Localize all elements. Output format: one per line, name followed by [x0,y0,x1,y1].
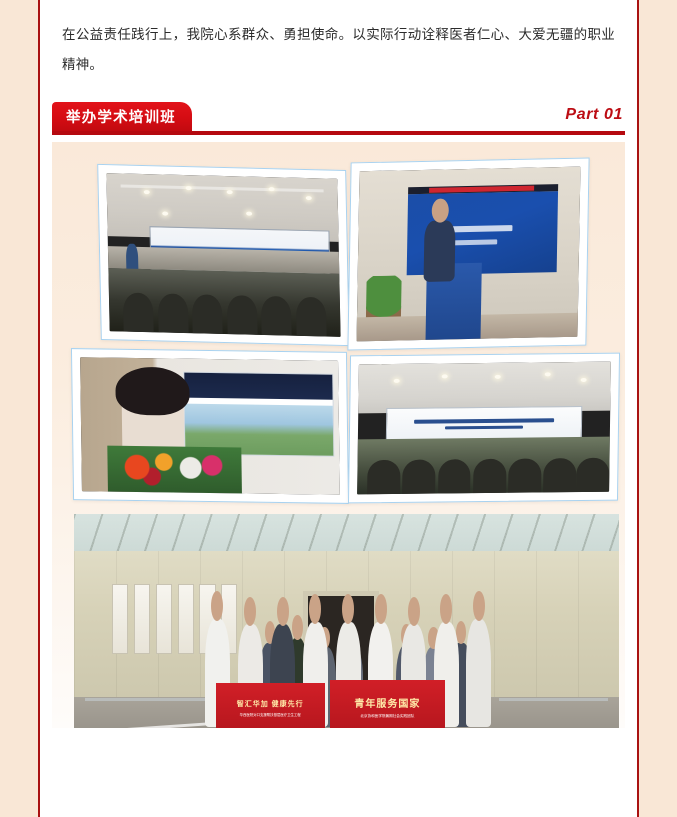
speaker-figure [424,220,456,282]
photo-frame-lecture-hall[interactable] [348,353,620,504]
presentation-screen [183,372,334,457]
banner-right: 青年服务国家 北京协和医学院暑期社会实践团队 [330,680,444,734]
panel-footer-space [52,728,625,774]
section-tab[interactable]: 举办学术培训班 [52,102,192,131]
banner-main-text: 青年服务国家 [354,695,420,710]
intro-block: 在公益责任践行上，我院心系群众、勇担使命。以实际行动诠释医者仁心、大爱无疆的职业… [40,0,637,80]
audience-seating [357,437,610,494]
body-paragraph: 在公益责任践行上，我院心系群众、勇担使命。以实际行动诠释医者仁心、大爱无疆的职业… [62,20,615,80]
photo-podium-speaker [357,167,581,342]
photo-lecture-hall [357,362,611,495]
section-header: 举办学术培训班 Part 01 [52,102,625,142]
document-page: 在公益责任践行上，我院心系群众、勇担使命。以实际行动诠释医者仁心、大爱无疆的职业… [38,0,639,817]
photo-frame-podium-speaker[interactable] [347,157,589,350]
banner-left: 智汇华加 健康先行 华西医院对口支援帮扶基层医疗卫生工程 [216,683,325,734]
photo-frame-auditorium-overview[interactable] [97,164,350,346]
presentation-screen [386,406,583,442]
section-tab-label: 举办学术培训班 [66,106,176,127]
canopy [74,514,619,554]
flower-arrangement [107,446,242,493]
part-label: Part 01 [565,106,623,124]
banner-sub-text: 北京协和医学院暑期社会实践团队 [360,714,414,719]
photo-group-volunteers[interactable]: 智汇华加 健康先行 华西医院对口支援帮扶基层医疗卫生工程 青年服务国家 北京协和… [74,514,619,748]
photo-collage-panel: 智汇华加 健康先行 华西医院对口支援帮扶基层医疗卫生工程 青年服务国家 北京协和… [52,142,625,774]
banner-left-text: 智汇华加 健康先行 [237,699,304,709]
photo-frame-female-speaker[interactable] [71,348,349,504]
photo-female-speaker [80,357,340,495]
photo-auditorium-overview [106,173,340,337]
banner-left-subtext: 华西医院对口支援帮扶基层医疗卫生工程 [240,712,301,717]
section-divider-rule [52,131,625,135]
audience-seating [108,268,340,337]
